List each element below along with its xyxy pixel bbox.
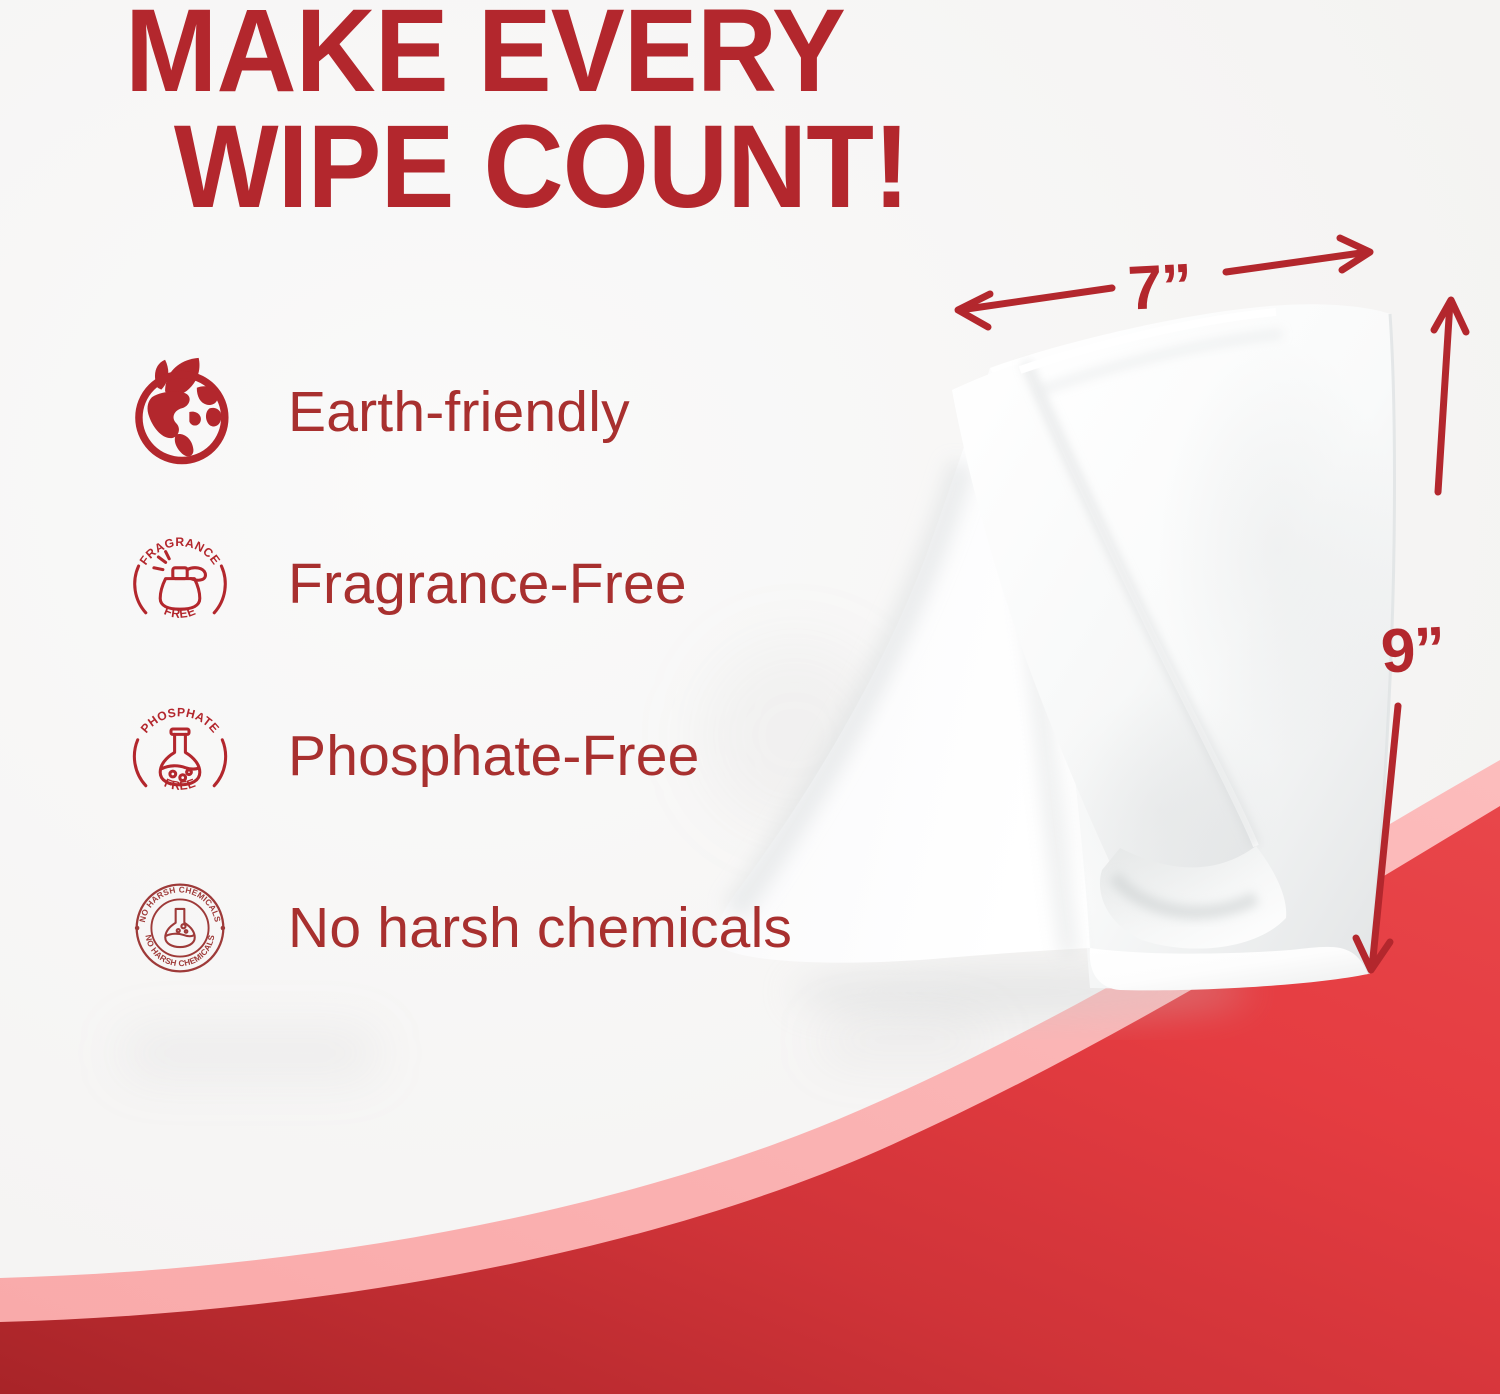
perfume-bottle-shape: [154, 552, 206, 610]
no-harsh-chemicals-icon: NO HARSH CHEMICALS NO HARSH CHEMICALS: [118, 866, 242, 990]
feature-label-phosphate-free: Phosphate-Free: [288, 723, 700, 789]
earth-globe-leaf-icon: [118, 350, 242, 474]
phosphate-free-icon: PHOSPHATE FREE: [118, 694, 242, 818]
stamp-text-top: NO HARSH CHEMICALS: [137, 884, 223, 923]
badge-arc-left: [135, 566, 146, 613]
flask-shape: [165, 909, 194, 947]
feature-item-phosphate-free: PHOSPHATE FREE Phospha: [118, 692, 878, 820]
feature-item-earth-friendly: Earth-friendly: [118, 348, 878, 476]
headline-line-1: MAKE EVERY: [125, 0, 1065, 110]
height-dimension-label: 9”: [1379, 613, 1446, 687]
badge-text-top: FRAGRANCE: [137, 535, 224, 567]
headline-line-2: WIPE COUNT!: [125, 110, 1065, 226]
product-feature-banner: MAKE EVERY WIPE COUNT!: [0, 0, 1500, 1394]
feature-item-fragrance-free: FRAGRANCE FREE: [118, 520, 878, 648]
feature-item-no-harsh-chemicals: NO HARSH CHEMICALS NO HARSH CHEMICALS: [118, 864, 878, 992]
stamp-dot-right: [221, 926, 226, 931]
badge-arc-right: [214, 566, 225, 613]
flask-shape: [160, 729, 200, 785]
page-title: MAKE EVERY WIPE COUNT!: [125, 0, 1065, 225]
fragrance-free-icon: FRAGRANCE FREE: [118, 522, 242, 646]
badge-arc-right: [214, 740, 225, 786]
stamp-dot-left: [135, 926, 140, 931]
width-dimension-label: 7”: [1126, 250, 1193, 324]
badge-text-top: PHOSPHATE: [138, 705, 222, 735]
background-blur-artifact: [120, 1030, 380, 1076]
wipe-bottom-edge: [1090, 947, 1368, 991]
feature-list: Earth-friendly FRAGRANCE: [118, 348, 878, 992]
feature-label-no-harsh-chemicals: No harsh chemicals: [288, 895, 792, 961]
wipe-mid-soft-shade: [1040, 690, 1280, 930]
feature-label-fragrance-free: Fragrance-Free: [288, 551, 687, 617]
feature-label-earth-friendly: Earth-friendly: [288, 379, 630, 445]
badge-arc-left: [134, 740, 145, 786]
